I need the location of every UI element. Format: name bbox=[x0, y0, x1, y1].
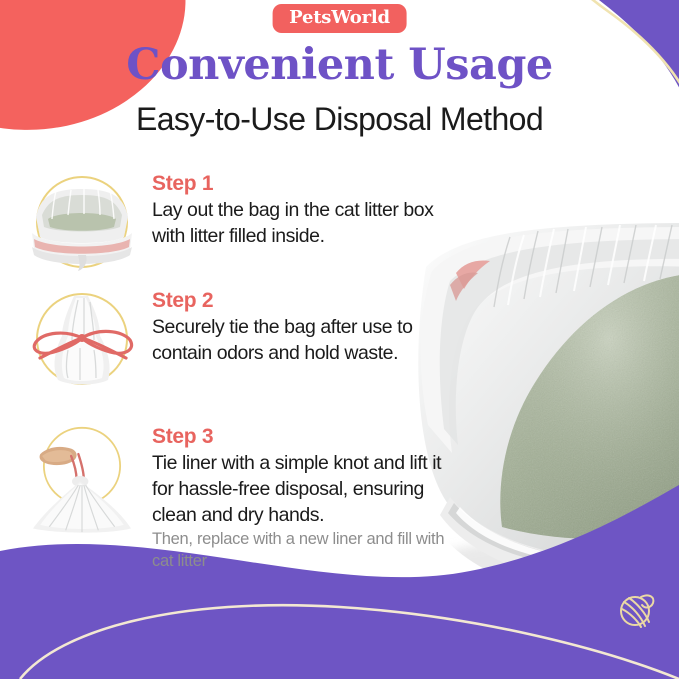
step-text: Lay out the bag in the cat litter box wi… bbox=[152, 198, 464, 249]
page-subtitle: Easy-to-Use Disposal Method bbox=[0, 100, 679, 138]
brand-logo-badge: PetsWorld bbox=[272, 4, 407, 33]
step-text: Tie liner with a simple knot and lift it… bbox=[152, 451, 464, 528]
tied-bag-with-ribbon-thumbnail bbox=[18, 280, 146, 398]
step-label: Step 2 bbox=[152, 290, 464, 312]
page-title: Convenient Usage bbox=[0, 44, 679, 87]
step-label: Step 3 bbox=[152, 426, 464, 448]
step-text: Securely tie the bag after use to contai… bbox=[152, 315, 464, 366]
step-body: Step 2 Securely tie the bag after use to… bbox=[152, 290, 464, 367]
step-label: Step 1 bbox=[152, 173, 464, 195]
infographic-page: PetsWorld Convenient Usage Easy-to-Use D… bbox=[0, 0, 679, 679]
hand-lifting-tied-bag-thumbnail bbox=[18, 416, 146, 534]
step-subtext: Then, replace with a new liner and fill … bbox=[152, 529, 464, 572]
step-body: Step 1 Lay out the bag in the cat litter… bbox=[152, 173, 464, 250]
litter-box-with-liner-thumbnail bbox=[18, 163, 146, 281]
step-body: Step 3 Tie liner with a simple knot and … bbox=[152, 426, 464, 572]
